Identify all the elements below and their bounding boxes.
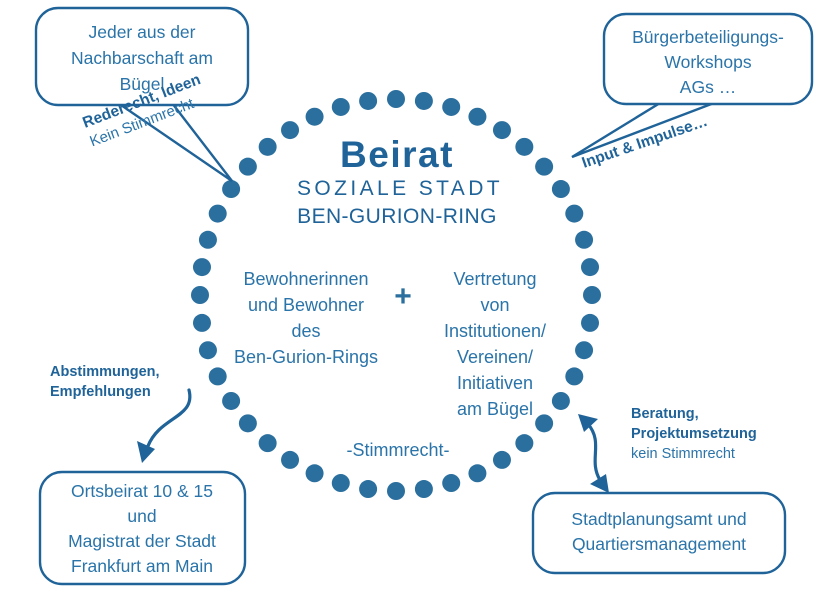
ring-dot xyxy=(552,392,570,410)
center-column-left-line-2: und Bewohner xyxy=(248,295,364,315)
ring-dot xyxy=(575,341,593,359)
ring-dot xyxy=(575,231,593,249)
ring-dot xyxy=(415,480,433,498)
ring-dot xyxy=(493,121,511,139)
center-column-right-line-5: Initiativen xyxy=(457,373,533,393)
ring-dot xyxy=(209,367,227,385)
bubble-neighbourhood-line-2: Nachbarschaft am xyxy=(71,48,213,68)
ring-dot xyxy=(565,205,583,223)
ring-dot xyxy=(442,98,460,116)
ring-dot xyxy=(581,314,599,332)
ring-dot xyxy=(199,231,217,249)
ring-dot xyxy=(565,367,583,385)
ring-dot xyxy=(468,108,486,126)
ring-dot xyxy=(199,341,217,359)
ring-dot xyxy=(581,258,599,276)
ring-dot xyxy=(415,92,433,110)
ring-dot xyxy=(259,138,277,156)
box-stadtplanungsamt[interactable]: Stadtplanungsamt und Quartiersmanagement xyxy=(533,493,785,573)
box-ortsbeirat[interactable]: Ortsbeirat 10 & 15 und Magistrat der Sta… xyxy=(40,472,245,584)
ring-dot xyxy=(359,92,377,110)
ring-dot xyxy=(583,286,601,304)
ring-dot xyxy=(193,258,211,276)
bubble-participation-line-1: Bürgerbeteiligungs- xyxy=(632,27,784,47)
box-ortsbeirat-line-2: und xyxy=(127,506,156,526)
center-subtitle-1: SOZIALE STADT xyxy=(297,177,503,200)
center-plus-symbol: + xyxy=(394,280,412,313)
ring-dot xyxy=(209,205,227,223)
ring-dot xyxy=(387,482,405,500)
ring-dot xyxy=(306,108,324,126)
center-content: Beirat SOZIALE STADT BEN-GURION-RING Bew… xyxy=(234,134,546,460)
ring-dot xyxy=(535,158,553,176)
center-footer: -Stimmrecht- xyxy=(347,440,450,460)
diagram-svg: Jeder aus der Nachbarschaft am Bügel Red… xyxy=(0,0,820,600)
annotation-right: Beratung, Projektumsetzung kein Stimmrec… xyxy=(631,406,757,462)
ring-dot xyxy=(222,392,240,410)
annotation-top-right-bold: Input & Impulse… xyxy=(580,113,710,172)
center-column-left: Bewohnerinnen und Bewohner des Ben-Gurio… xyxy=(234,269,378,367)
bubble-participation-line-2: Workshops xyxy=(664,52,751,72)
center-column-left-line-1: Bewohnerinnen xyxy=(243,269,368,289)
center-column-right-line-6: am Bügel xyxy=(457,399,533,419)
arrow-right-head-up xyxy=(578,414,598,432)
ring-dot xyxy=(535,414,553,432)
annotation-right-line-2: Projektumsetzung xyxy=(631,426,757,442)
ring-dot xyxy=(515,434,533,452)
arrow-right-path xyxy=(588,424,600,480)
box-ortsbeirat-line-1: Ortsbeirat 10 & 15 xyxy=(71,481,213,501)
ring-dot xyxy=(515,138,533,156)
ring-dot xyxy=(306,464,324,482)
ring-dot xyxy=(332,474,350,492)
ring-dot xyxy=(442,474,460,492)
box-stadtplanungsamt-line-1: Stadtplanungsamt und xyxy=(571,509,746,529)
annotation-left: Abstimmungen, Empfehlungen xyxy=(50,364,160,400)
ring-dot xyxy=(493,451,511,469)
center-column-right: Vertretung von Institutionen/ Vereinen/ … xyxy=(444,269,546,419)
ring-dot xyxy=(332,98,350,116)
center-column-right-line-1: Vertretung xyxy=(453,269,536,289)
center-title: Beirat xyxy=(340,134,454,175)
annotation-left-line-1: Abstimmungen, xyxy=(50,364,160,380)
box-stadtplanungsamt-frame[interactable] xyxy=(533,493,785,573)
ring-dot xyxy=(281,121,299,139)
ring-dot xyxy=(193,314,211,332)
center-column-left-line-4: Ben-Gurion-Rings xyxy=(234,347,378,367)
arrow-left xyxy=(137,390,190,463)
bubble-participation[interactable]: Bürgerbeteiligungs- Workshops AGs … xyxy=(572,14,812,157)
ring-dot xyxy=(222,180,240,198)
ring-dot xyxy=(468,464,486,482)
ring-dot xyxy=(259,434,277,452)
box-stadtplanungsamt-line-2: Quartiersmanagement xyxy=(572,534,746,554)
center-subtitle-2: BEN-GURION-RING xyxy=(297,205,497,228)
annotation-right-line-3: kein Stimmrecht xyxy=(631,446,735,462)
box-ortsbeirat-line-4: Frankfurt am Main xyxy=(71,556,213,576)
ring-dot xyxy=(359,480,377,498)
ring-dot xyxy=(387,90,405,108)
arrow-left-head xyxy=(137,441,155,463)
arrow-right xyxy=(578,414,609,493)
center-column-right-line-3: Institutionen/ xyxy=(444,321,546,341)
bubble-neighbourhood-line-1: Jeder aus der xyxy=(88,22,195,42)
arrow-left-path xyxy=(148,390,190,446)
center-column-left-line-3: des xyxy=(291,321,320,341)
ring-dot xyxy=(191,286,209,304)
center-column-right-line-4: Vereinen/ xyxy=(457,347,533,367)
bubble-participation-line-3: AGs … xyxy=(680,77,736,97)
center-column-right-line-2: von xyxy=(480,295,509,315)
annotation-right-line-1: Beratung, xyxy=(631,406,699,422)
diagram-canvas: Jeder aus der Nachbarschaft am Bügel Red… xyxy=(0,0,820,600)
box-ortsbeirat-line-3: Magistrat der Stadt xyxy=(68,531,216,551)
annotation-left-line-2: Empfehlungen xyxy=(50,384,151,400)
annotation-top-right: Input & Impulse… xyxy=(580,113,710,172)
ring-dot xyxy=(239,414,257,432)
ring-dot xyxy=(281,451,299,469)
ring-dot xyxy=(552,180,570,198)
ring-dot xyxy=(239,158,257,176)
